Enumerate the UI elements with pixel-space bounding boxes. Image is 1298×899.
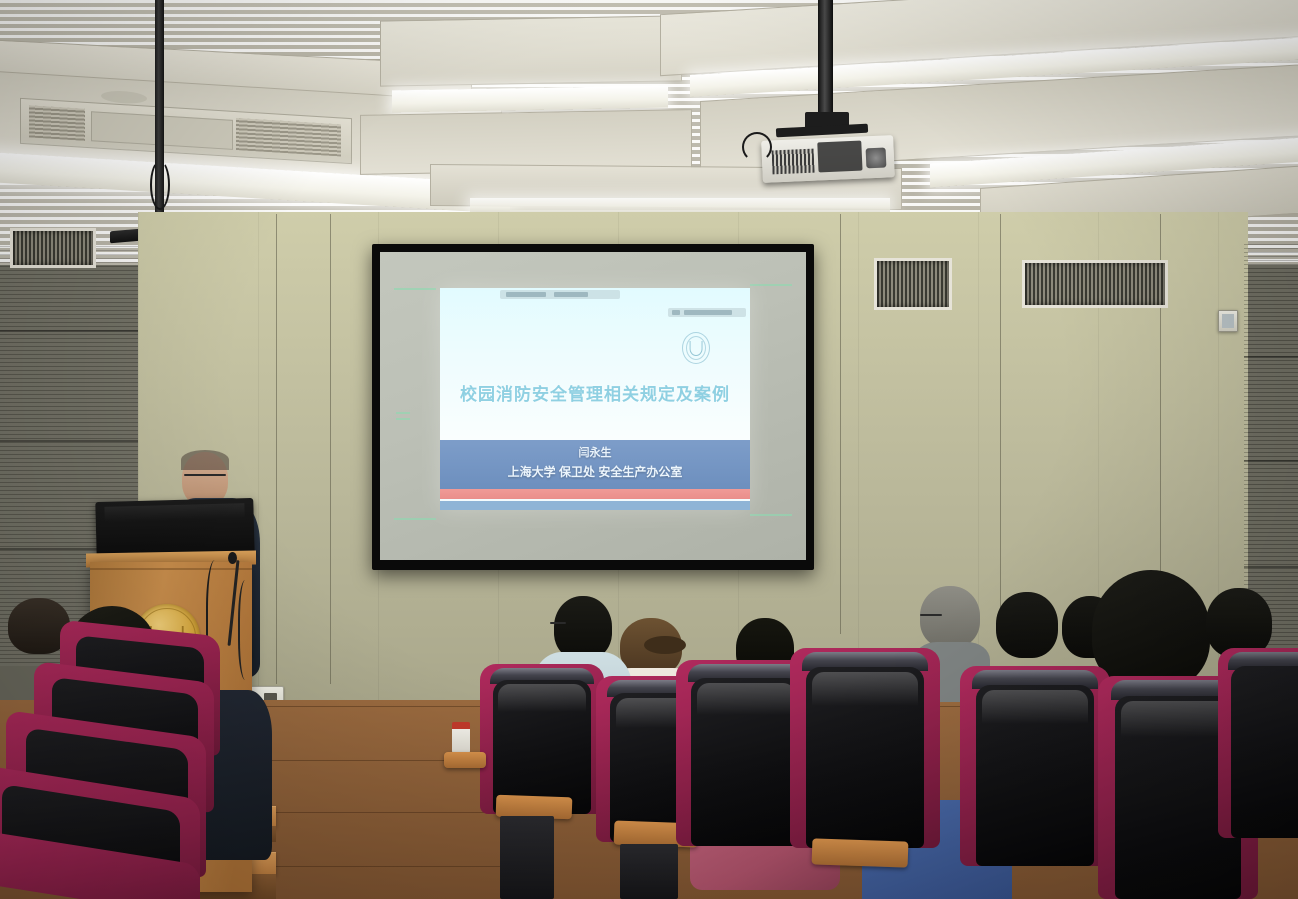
presentation-slide: 校园消防安全管理相关规定及案例 闫永生 上海大学 保卫处 安全生产办公室 bbox=[440, 288, 750, 510]
lectern-seam bbox=[90, 568, 252, 570]
attendee-glasses bbox=[550, 622, 566, 624]
slide-speaker-org: 上海大学 保卫处 安全生产办公室 bbox=[440, 463, 750, 480]
seat-tray[interactable] bbox=[444, 752, 486, 768]
projector-vent-grill bbox=[772, 149, 815, 175]
seat-gloss bbox=[812, 672, 918, 706]
presenter-glasses bbox=[184, 474, 226, 476]
microphone-head bbox=[228, 552, 237, 564]
seat[interactable] bbox=[480, 664, 604, 814]
seat-armrest[interactable] bbox=[812, 838, 909, 867]
wall-vent-left bbox=[10, 228, 96, 268]
ac-louver bbox=[236, 118, 341, 156]
ui-chip bbox=[554, 292, 588, 297]
projector-cable bbox=[742, 132, 772, 162]
ceiling-coffer-center bbox=[380, 15, 682, 86]
seat[interactable] bbox=[790, 648, 940, 848]
mount-cable bbox=[150, 160, 170, 210]
seat[interactable] bbox=[1218, 648, 1298, 838]
shanghai-university-logo bbox=[682, 332, 710, 364]
screen-corner-mark bbox=[750, 514, 792, 516]
attendee-glasses bbox=[920, 614, 942, 616]
attendee-head bbox=[920, 586, 980, 648]
wall-seam bbox=[0, 330, 142, 332]
seat[interactable] bbox=[0, 846, 200, 899]
ui-chip bbox=[672, 310, 680, 315]
screen-corner-mark bbox=[394, 288, 436, 290]
screen-center-mark bbox=[396, 412, 410, 414]
armrest-post bbox=[620, 844, 678, 899]
seat-gloss bbox=[697, 683, 795, 715]
wall-vent-right bbox=[1022, 260, 1168, 308]
projection-screen: 校园消防安全管理相关规定及案例 闫永生 上海大学 保卫处 安全生产办公室 bbox=[372, 244, 814, 570]
screen-corner-mark bbox=[750, 284, 792, 286]
slide-red-band bbox=[440, 489, 750, 499]
wall-control-panel[interactable] bbox=[1218, 310, 1238, 332]
screen-corner-mark bbox=[394, 518, 436, 520]
projector-pole-mount bbox=[818, 0, 833, 118]
projector-lens bbox=[866, 147, 887, 168]
control-panel-face bbox=[1222, 314, 1234, 328]
wall-panel-seam bbox=[840, 214, 841, 634]
slide-ui-bar-right bbox=[668, 308, 746, 317]
podium-cable bbox=[238, 580, 256, 680]
ceiling-light-strip-lower bbox=[470, 198, 890, 212]
wall-seam bbox=[1244, 566, 1298, 568]
screen-surface: 校园消防安全管理相关规定及案例 闫永生 上海大学 保卫处 安全生产办公室 bbox=[380, 252, 806, 560]
presenter-hair bbox=[181, 450, 229, 470]
seat[interactable] bbox=[960, 666, 1110, 866]
ac-louver bbox=[29, 105, 85, 140]
water-bottle[interactable] bbox=[452, 726, 470, 754]
slide-bottom-band bbox=[440, 501, 750, 510]
wall-panel-seam bbox=[330, 214, 331, 684]
ceiling-projector bbox=[761, 135, 895, 183]
slide-speaker-name: 闫永生 bbox=[440, 444, 750, 460]
wall-panel-seam bbox=[276, 214, 277, 684]
seat-back bbox=[1231, 666, 1298, 838]
attendee-head bbox=[554, 596, 612, 660]
wall-seam bbox=[0, 440, 142, 442]
screen-center-mark bbox=[396, 418, 410, 420]
slide-ui-bar-top bbox=[500, 290, 620, 299]
attendee-hair-bun bbox=[644, 636, 686, 654]
ui-chip bbox=[684, 310, 732, 315]
ui-chip bbox=[506, 292, 546, 297]
lecture-hall-photo: 校园消防安全管理相关规定及案例 闫永生 上海大学 保卫处 安全生产办公室 bbox=[0, 0, 1298, 899]
armrest-post bbox=[500, 816, 554, 899]
logo-glyph bbox=[690, 341, 703, 356]
monitor-screen-sheen bbox=[105, 503, 244, 522]
bottle-cap bbox=[452, 722, 470, 729]
attendee-head bbox=[996, 592, 1058, 658]
wall-panel-seam bbox=[1000, 214, 1001, 614]
projector-cable-bundle bbox=[817, 141, 862, 173]
seat-gloss bbox=[982, 690, 1088, 724]
wall-seam bbox=[1244, 356, 1298, 358]
wall-seam bbox=[1244, 460, 1298, 462]
seat-gloss bbox=[498, 684, 586, 712]
slide-title: 校园消防安全管理相关规定及案例 bbox=[440, 380, 750, 405]
wall-vent-center-right bbox=[874, 258, 952, 310]
